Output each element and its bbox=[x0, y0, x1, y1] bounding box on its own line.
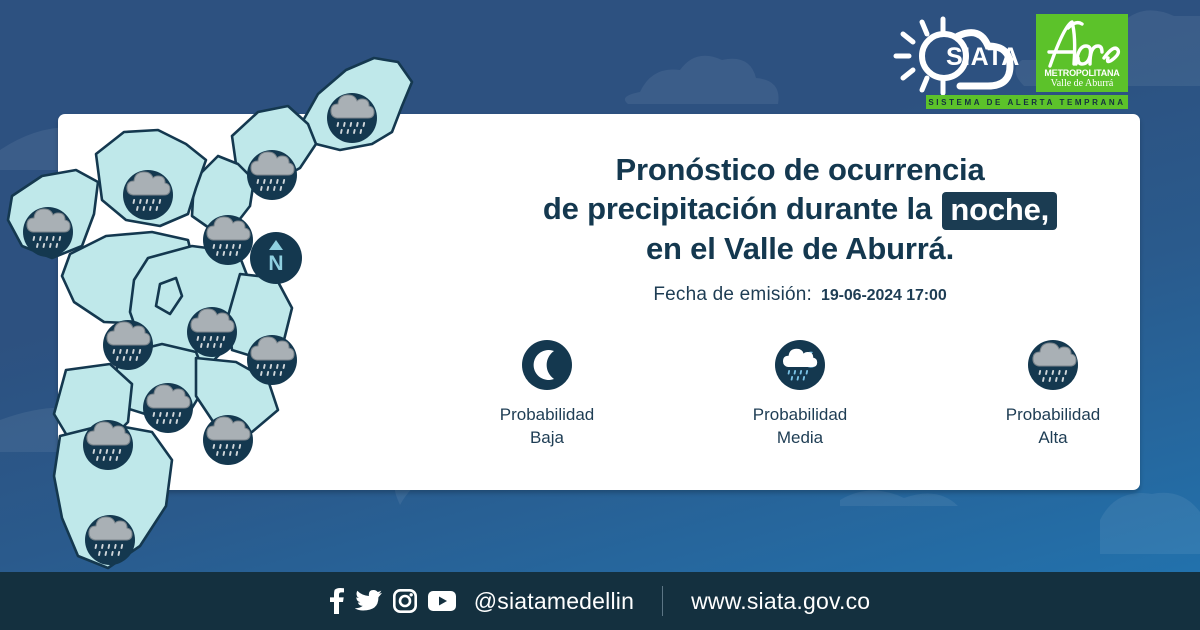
emission-value: 19-06-2024 17:00 bbox=[821, 287, 947, 305]
emission-date: Fecha de emisión: 19-06-2024 17:00 bbox=[470, 284, 1130, 306]
legend-baja-line1: Probabilidad bbox=[500, 403, 595, 426]
page-title: Pronóstico de ocurrencia de precipitació… bbox=[470, 150, 1130, 268]
tagline-bar: SISTEMA DE ALERTA TEMPRANA bbox=[926, 95, 1128, 109]
legend-item-baja: Probabilidad Baja bbox=[472, 340, 622, 449]
cloud-moon-rain-icon bbox=[775, 340, 825, 390]
compass-rose-icon: N bbox=[250, 232, 302, 284]
legend-label-alta: Probabilidad Alta bbox=[1006, 403, 1101, 449]
marker-caldas bbox=[85, 515, 135, 565]
legend-media-line1: Probabilidad bbox=[753, 403, 848, 426]
forecast-content: Pronóstico de ocurrencia de precipitació… bbox=[470, 150, 1130, 449]
legend-label-media: Probabilidad Media bbox=[753, 403, 848, 449]
valle-de-aburra-map: N bbox=[0, 40, 460, 580]
logo-group: SIATA METROPOLITANA Valle de Aburrá bbox=[886, 14, 1128, 109]
footer-divider bbox=[662, 586, 663, 616]
marker-sabaneta bbox=[203, 415, 253, 465]
facebook-icon[interactable] bbox=[330, 588, 344, 614]
social-icons bbox=[330, 588, 456, 614]
legend-label-baja: Probabilidad Baja bbox=[500, 403, 595, 449]
legend-item-media: Probabilidad Media bbox=[725, 340, 875, 449]
footer-content: @siatamedellin www.siata.gov.co bbox=[0, 572, 1200, 630]
title-line-2: de precipitación durante la noche, bbox=[470, 189, 1130, 229]
legend-alta-line1: Probabilidad bbox=[1006, 403, 1101, 426]
siata-wordmark: SIATA bbox=[946, 43, 1020, 71]
marker-girardota bbox=[247, 150, 297, 200]
infographic-canvas: SIATA METROPOLITANA Valle de Aburrá bbox=[0, 0, 1200, 630]
marker-la-estrella bbox=[83, 420, 133, 470]
cloud-heavy-rain-icon bbox=[1028, 340, 1078, 390]
emission-label: Fecha de emisión: bbox=[653, 284, 812, 306]
title-line-1: Pronóstico de ocurrencia bbox=[470, 150, 1130, 189]
title-line-2-text: de precipitación durante la bbox=[543, 191, 932, 226]
legend-alta-line2: Alta bbox=[1006, 426, 1101, 449]
marker-bello-norte bbox=[23, 207, 73, 257]
probability-legend: Probabilidad Baja bbox=[470, 340, 1130, 449]
marker-envigado bbox=[247, 335, 297, 385]
moon-icon bbox=[522, 340, 572, 390]
youtube-icon[interactable] bbox=[428, 591, 456, 611]
marker-medellin bbox=[187, 307, 237, 357]
marker-barbosa bbox=[327, 93, 377, 143]
marker-san-pedro bbox=[123, 170, 173, 220]
area-metropolitana-logo: METROPOLITANA Valle de Aburrá SISTEMA DE… bbox=[1036, 14, 1128, 109]
title-line-3: en el Valle de Aburrá. bbox=[470, 229, 1130, 268]
marker-itagui bbox=[143, 383, 193, 433]
legend-baja-line2: Baja bbox=[500, 426, 595, 449]
title-highlight-noche: noche, bbox=[942, 192, 1057, 230]
website-url[interactable]: www.siata.gov.co bbox=[691, 588, 870, 615]
marker-copacabana bbox=[203, 215, 253, 265]
twitter-icon[interactable] bbox=[355, 590, 382, 613]
social-handle[interactable]: @siatamedellin bbox=[474, 588, 634, 615]
area-line2: Valle de Aburrá bbox=[1051, 78, 1114, 89]
marker-bello bbox=[103, 320, 153, 370]
compass-label: N bbox=[268, 252, 283, 275]
legend-item-alta: Probabilidad Alta bbox=[978, 340, 1128, 449]
instagram-icon[interactable] bbox=[393, 589, 417, 613]
area-script-icon bbox=[1040, 16, 1124, 70]
siata-logo-icon: SIATA bbox=[886, 14, 1026, 98]
legend-media-line2: Media bbox=[753, 426, 848, 449]
